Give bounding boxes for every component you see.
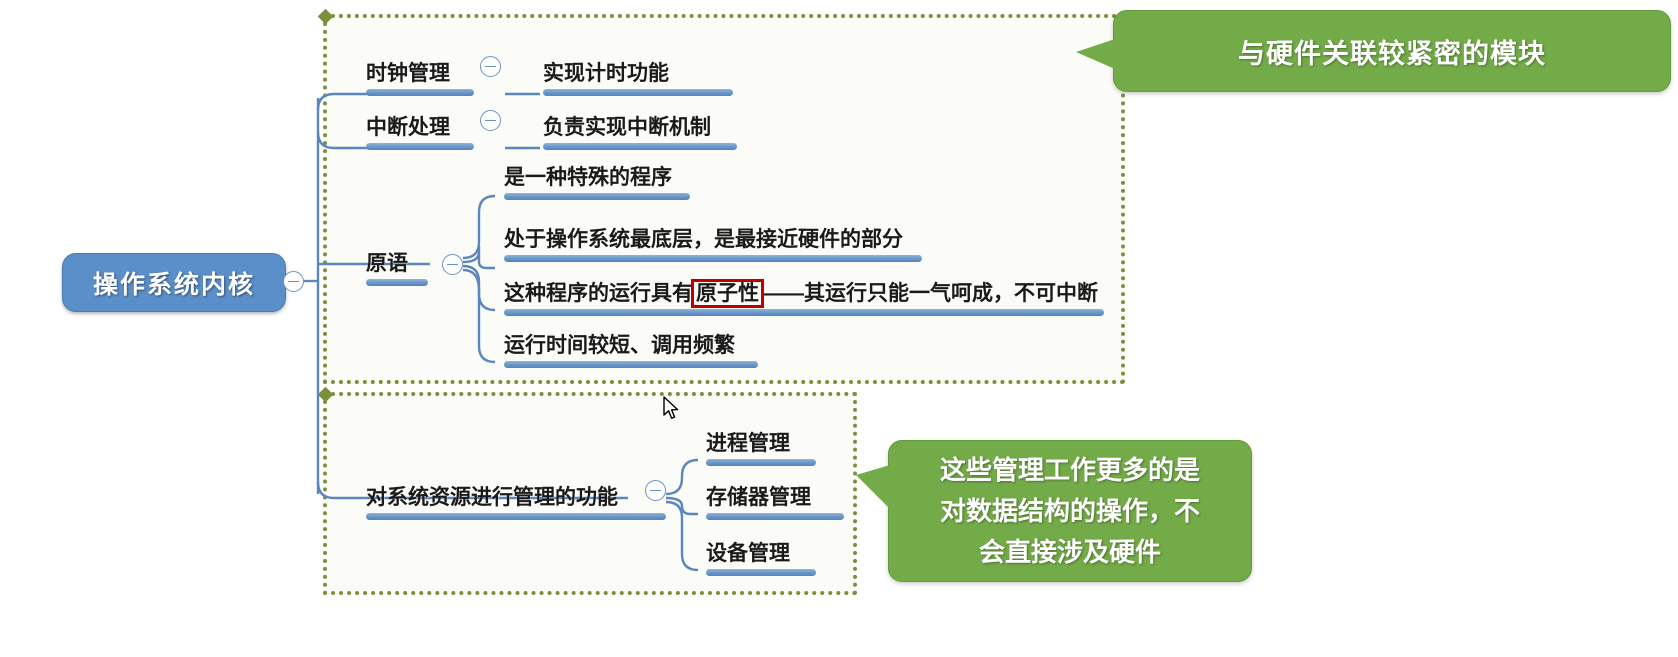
collapse-toggle-root[interactable] <box>283 271 304 292</box>
topic-label: 时钟管理 <box>366 57 450 87</box>
topic-underline <box>504 193 690 200</box>
topic-underline <box>504 255 922 262</box>
topic-resource-management[interactable]: 对系统资源进行管理的功能 <box>366 476 666 520</box>
topic-label: 处于操作系统最底层，是最接近硬件的部分 <box>504 223 903 253</box>
callout-tail <box>1076 39 1115 69</box>
topic-interrupt-handling[interactable]: 中断处理 <box>366 106 476 150</box>
topic-underline <box>366 513 666 520</box>
topic-underline <box>543 143 737 150</box>
topic-device-management[interactable]: 设备管理 <box>706 532 816 576</box>
topic-underline <box>504 361 758 368</box>
topic-label: 是一种特殊的程序 <box>504 161 672 191</box>
root-node-label: 操作系统内核 <box>93 265 255 301</box>
topic-underline <box>706 569 816 576</box>
mouse-pointer-icon <box>663 396 681 422</box>
collapse-toggle-clock-management[interactable] <box>480 56 501 77</box>
topic-label: 中断处理 <box>366 111 450 141</box>
collapse-toggle-interrupt-handling[interactable] <box>480 110 501 131</box>
callout-tail <box>856 465 890 509</box>
topic-underline <box>366 279 428 286</box>
mindmap-canvas: 操作系统内核 时钟管理 实现计时功能 中断处理 负责实现中断机制 原语 是一种特… <box>0 0 1678 657</box>
collapse-toggle-resource-management[interactable] <box>645 480 666 501</box>
topic-interrupt-mechanism[interactable]: 负责实现中断机制 <box>543 106 737 150</box>
topic-process-management[interactable]: 进程管理 <box>706 422 816 466</box>
group-resize-handle[interactable] <box>318 9 334 25</box>
topic-clock-timing[interactable]: 实现计时功能 <box>543 52 733 96</box>
root-node[interactable]: 操作系统内核 <box>62 253 286 312</box>
callout-text-line-1: 这些管理工作更多的是 <box>940 450 1200 491</box>
topic-primitive-atomicity[interactable]: 这种程序的运行具有原子性——其运行只能一气呵成，不可中断 <box>504 272 1104 316</box>
callout-text-line-3: 会直接涉及硬件 <box>979 532 1161 573</box>
topic-label: 存储器管理 <box>706 481 811 511</box>
callout-hardware-related[interactable]: 与硬件关联较紧密的模块 <box>1113 10 1671 92</box>
topic-underline <box>706 513 844 520</box>
topic-underline <box>543 89 733 96</box>
topic-storage-management[interactable]: 存储器管理 <box>706 476 844 520</box>
topic-label: 负责实现中断机制 <box>543 111 711 141</box>
topic-primitive-special-program[interactable]: 是一种特殊的程序 <box>504 156 690 200</box>
topic-clock-management[interactable]: 时钟管理 <box>366 52 476 96</box>
topic-label: 运行时间较短、调用频繁 <box>504 329 735 359</box>
topic-primitive-lowest-layer[interactable]: 处于操作系统最底层，是最接近硬件的部分 <box>504 218 922 262</box>
highlighted-term: 原子性 <box>693 281 762 306</box>
topic-underline <box>366 89 474 96</box>
topic-underline <box>706 459 816 466</box>
topic-primitive-short-frequent[interactable]: 运行时间较短、调用频繁 <box>504 324 758 368</box>
topic-label: 对系统资源进行管理的功能 <box>366 481 618 511</box>
group-resize-handle[interactable] <box>318 387 334 403</box>
topic-label: 原语 <box>366 247 408 277</box>
topic-underline <box>504 309 1104 316</box>
topic-label: 设备管理 <box>706 537 790 567</box>
topic-primitive[interactable]: 原语 <box>366 242 430 286</box>
topic-label: 这种程序的运行具有原子性——其运行只能一气呵成，不可中断 <box>504 277 1098 307</box>
callout-text-line-2: 对数据结构的操作，不 <box>940 491 1200 532</box>
callout-text: 与硬件关联较紧密的模块 <box>1238 32 1546 71</box>
callout-data-structure[interactable]: 这些管理工作更多的是 对数据结构的操作，不 会直接涉及硬件 <box>888 440 1252 582</box>
topic-label: 实现计时功能 <box>543 57 669 87</box>
collapse-toggle-primitive[interactable] <box>442 254 463 275</box>
topic-label: 进程管理 <box>706 427 790 457</box>
topic-underline <box>366 143 474 150</box>
